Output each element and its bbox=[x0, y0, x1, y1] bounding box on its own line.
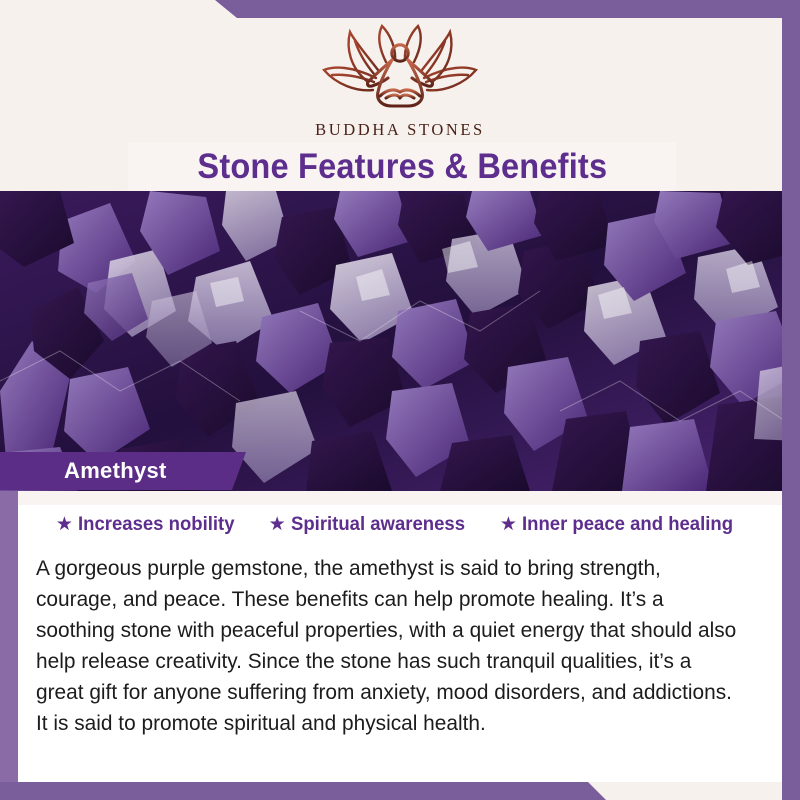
feature-label: Spiritual awareness bbox=[291, 513, 465, 536]
frame-right-accent bbox=[782, 0, 800, 800]
frame-bottom-accent bbox=[0, 782, 800, 800]
panel-top-tint bbox=[18, 491, 782, 505]
page-title-text: Stone Features & Benefits bbox=[197, 147, 607, 187]
stone-description: A gorgeous purple gemstone, the amethyst… bbox=[36, 553, 742, 739]
star-icon: ★ bbox=[500, 515, 517, 534]
feature-label: Increases nobility bbox=[78, 513, 234, 536]
feature-item-1: ★ Increases nobility bbox=[56, 513, 243, 536]
feature-list: ★ Increases nobility ★ Spiritual awarene… bbox=[18, 513, 782, 536]
lotus-meditation-icon bbox=[316, 22, 484, 114]
brand-name: BUDDHA STONES bbox=[315, 120, 485, 140]
stone-name: Amethyst bbox=[64, 458, 167, 484]
feature-label: Inner peace and healing bbox=[522, 513, 733, 536]
feature-item-3: ★ Inner peace and healing bbox=[500, 513, 744, 536]
star-icon: ★ bbox=[56, 515, 73, 534]
product-feature-card: BUDDHA STONES bbox=[0, 0, 800, 800]
star-icon: ★ bbox=[269, 515, 286, 534]
frame-left-accent bbox=[0, 491, 18, 800]
amethyst-crystal-cluster-photo bbox=[0, 191, 800, 491]
page-title: Stone Features & Benefits bbox=[128, 142, 676, 191]
content-panel: ★ Increases nobility ★ Spiritual awarene… bbox=[18, 491, 782, 782]
brand-logo: BUDDHA STONES bbox=[0, 22, 800, 140]
stone-name-banner: Amethyst bbox=[0, 452, 250, 490]
feature-item-2: ★ Spiritual awareness bbox=[269, 513, 474, 536]
